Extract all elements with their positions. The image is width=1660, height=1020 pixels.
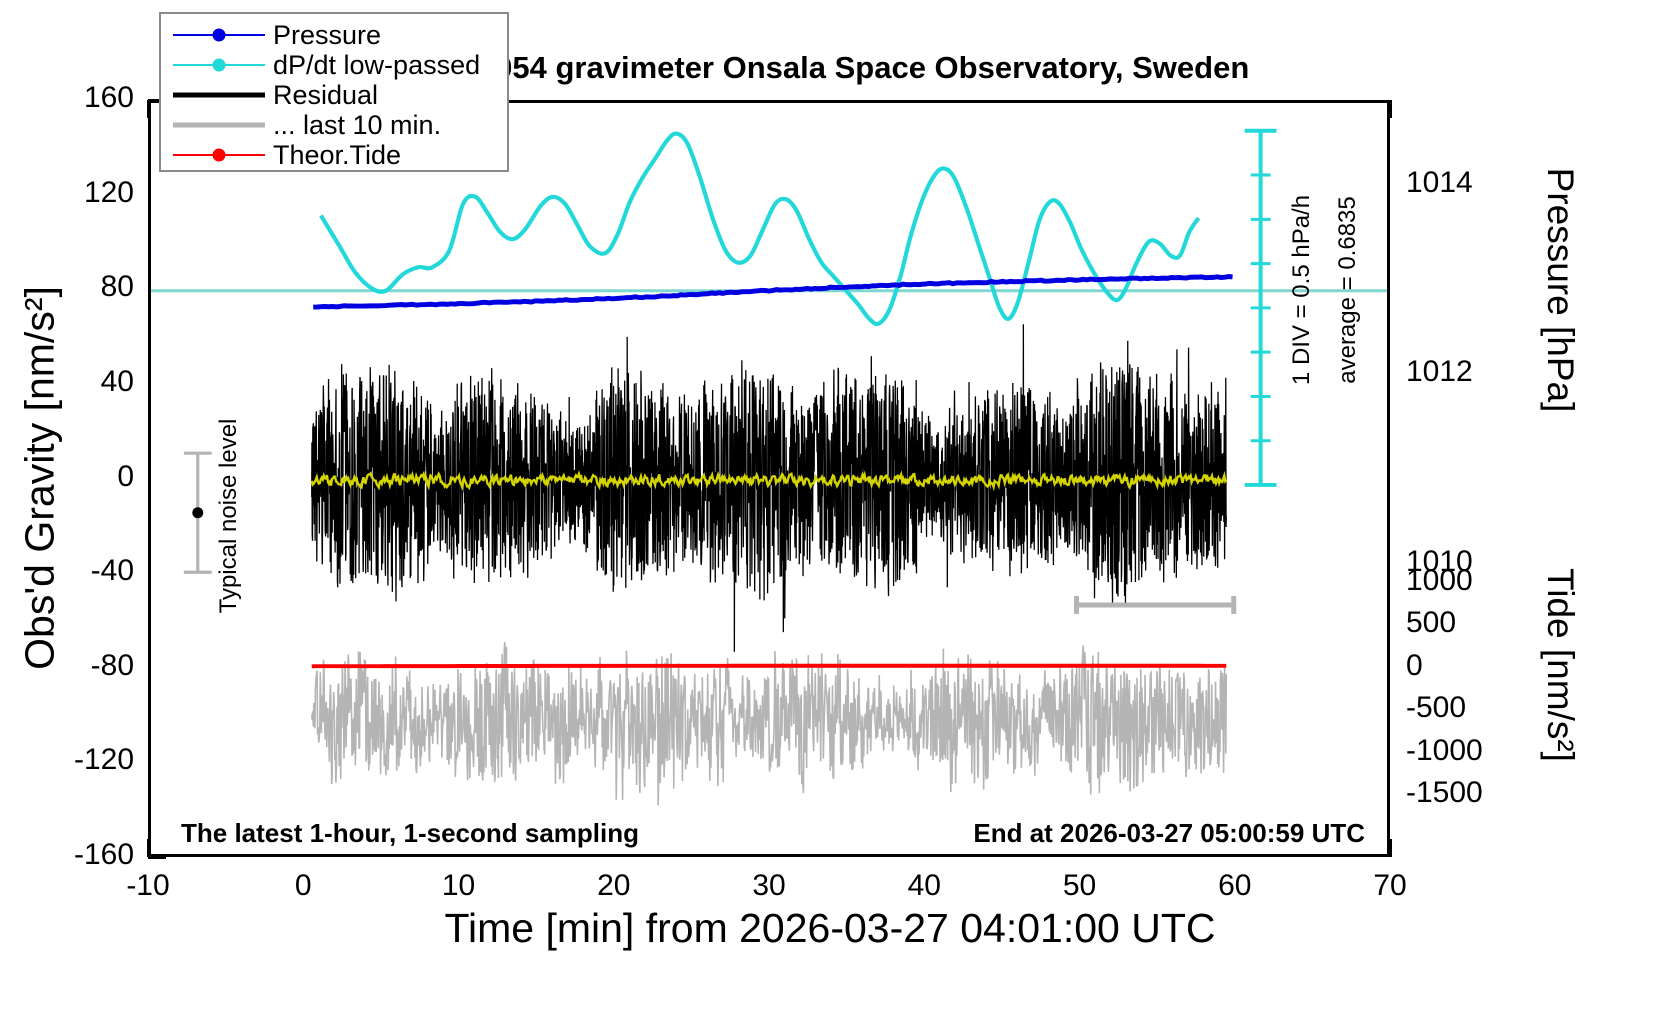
legend-item[interactable]: Theor.Tide xyxy=(173,140,507,170)
legend-swatch-icon xyxy=(173,50,265,80)
legend-item[interactable]: Pressure xyxy=(173,20,507,50)
average-value-label: average = 0.6835 xyxy=(1334,196,1362,384)
y-tick-label: 120 xyxy=(84,176,134,210)
y-tick-label: -80 xyxy=(91,649,134,683)
x-tick-label: 70 xyxy=(1373,869,1406,903)
dpdt-scale-bar xyxy=(1245,131,1277,485)
y-tick-label: 0 xyxy=(117,460,134,494)
footer-right-note: End at 2026-03-27 05:00:59 UTC xyxy=(973,818,1365,849)
legend-label: Theor.Tide xyxy=(273,140,401,171)
tide-tick-label: 500 xyxy=(1406,606,1456,640)
legend-item[interactable]: dP/dt low-passed xyxy=(173,50,507,80)
div-scale-label: 1 DIV = 0.5 hPa/h xyxy=(1288,195,1316,385)
x-tick-label: 0 xyxy=(295,869,312,903)
series-theor-tide xyxy=(312,666,1227,667)
tide-tick-label: 0 xyxy=(1406,649,1423,683)
legend-label: Pressure xyxy=(273,20,381,51)
x-tick-label: -10 xyxy=(126,869,169,903)
y-axis-left-title: Obs'd Gravity [nm/s²] xyxy=(17,286,64,670)
y-axis-right-tide-title: Tide [nm/s²] xyxy=(1539,568,1581,762)
x-tick-label: 10 xyxy=(442,869,475,903)
tide-tick-label: -500 xyxy=(1406,691,1466,725)
legend-label: ... last 10 min. xyxy=(273,110,441,141)
legend-swatch-icon xyxy=(173,110,265,140)
typical-noise-errorbar xyxy=(184,453,212,572)
legend-swatch-icon xyxy=(173,140,265,170)
y-tick-label: -160 xyxy=(74,838,134,872)
y-tick-label: -40 xyxy=(91,554,134,588)
figure-root: SCG_054 gravimeter Onsala Space Observat… xyxy=(0,0,1660,1020)
x-axis-title: Time [min] from 2026-03-27 04:01:00 UTC xyxy=(0,905,1660,952)
tide-tick-label: -1500 xyxy=(1406,776,1483,810)
pressure-tick-label: 1012 xyxy=(1406,355,1473,389)
plot-area: Typical noise level The latest 1-hour, 1… xyxy=(148,100,1390,857)
legend-item[interactable]: Residual xyxy=(173,80,507,110)
legend-label: dP/dt low-passed xyxy=(273,50,480,81)
legend-swatch-icon xyxy=(173,80,265,110)
y-tick-label: 80 xyxy=(101,270,134,304)
x-tick-label: 40 xyxy=(908,869,941,903)
legend-item[interactable]: ... last 10 min. xyxy=(173,110,507,140)
last-10-min-span-bar xyxy=(1077,596,1234,614)
typical-noise-level-label: Typical noise level xyxy=(215,419,243,614)
y-tick-label: 40 xyxy=(101,365,134,399)
x-tick-label: 30 xyxy=(752,869,785,903)
y-tick-label: 160 xyxy=(84,81,134,115)
chart-legend: PressuredP/dt low-passedResidual... last… xyxy=(159,12,509,172)
tide-tick-label: -1000 xyxy=(1406,734,1483,768)
tide-tick-label: 1000 xyxy=(1406,564,1473,598)
y-axis-right-pressure-title: Pressure [hPa] xyxy=(1539,168,1581,413)
legend-label: Residual xyxy=(273,80,378,111)
footer-left-note: The latest 1-hour, 1-second sampling xyxy=(181,818,639,849)
y-tick-label: -120 xyxy=(74,743,134,777)
x-tick-label: 20 xyxy=(597,869,630,903)
plot-svg xyxy=(151,103,1387,854)
legend-swatch-icon xyxy=(173,20,265,50)
x-tick-label: 60 xyxy=(1218,869,1251,903)
x-tick-label: 50 xyxy=(1063,869,1096,903)
pressure-tick-label: 1014 xyxy=(1406,166,1473,200)
